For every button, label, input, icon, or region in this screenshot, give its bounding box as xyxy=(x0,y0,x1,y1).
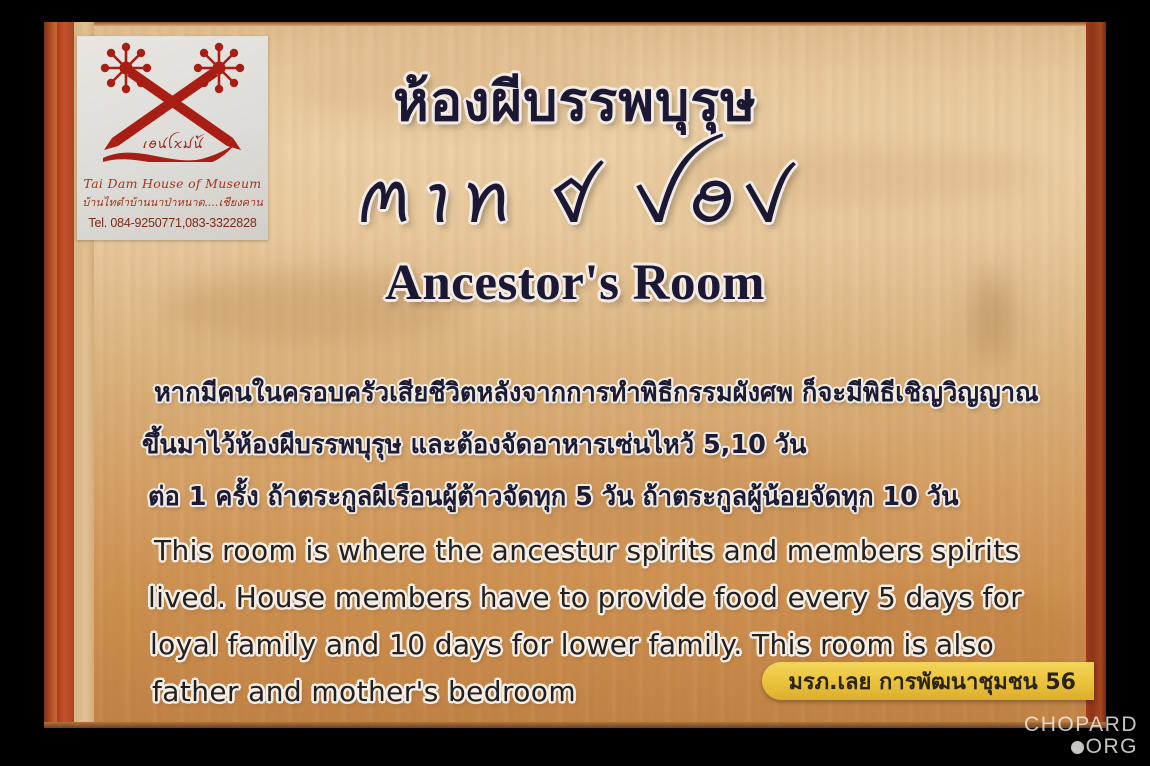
thai-text-line: ขึ้นมาไว้ห้องผีบรรพบุรุษ และต้องจัดอาหาร… xyxy=(106,419,1046,471)
watermark-line-2: ORG xyxy=(1086,735,1138,758)
sign-body-thai: หากมีคนในครอบครัวเสียชีวิตหลังจากการทำพิ… xyxy=(106,367,1046,523)
sign-title-english: Ancestor's Room xyxy=(44,254,1106,312)
thai-text-line: หากมีคนในครอบครัวเสียชีวิตหลังจากการทำพิ… xyxy=(106,367,1046,419)
wooden-sign-board: ꪹꪮꪙꪶꪎꪣꪙꪳ Tai Dam House of Museum บ้านไทด… xyxy=(44,22,1106,728)
english-text-line: lived. House members have to provide foo… xyxy=(106,574,1056,621)
thai-text-line: ต่อ 1 ครั้ง ถ้าตระกูลผีเรือนผู้ต้าวจัดทุ… xyxy=(106,471,1046,523)
sign-title-thai: ห้องผีบรรพบุรุษ xyxy=(44,72,1106,132)
credit-badge-label: มรภ.เลย การพัฒนาชุมชน 56 xyxy=(788,664,1076,699)
watermark-dot-icon xyxy=(1071,741,1084,754)
frame-edge-bottom xyxy=(44,722,1106,728)
english-text-line: This room is where the ancestur spirits … xyxy=(106,527,1056,574)
english-text-line: loyal family and 10 days for lower famil… xyxy=(106,621,1056,668)
credit-badge: มรภ.เลย การพัฒนาชุมชน 56 xyxy=(762,662,1094,700)
frame-edge-top xyxy=(44,22,1106,26)
photograph: ꪹꪮꪙꪶꪎꪣꪙꪳ Tai Dam House of Museum บ้านไทด… xyxy=(0,0,1150,766)
watermark-line-2-wrap: ORG xyxy=(1024,736,1138,758)
sign-title-taidam: ꪔꪱꪀ ꪥ ꪜꪮꪚ xyxy=(44,154,1106,240)
